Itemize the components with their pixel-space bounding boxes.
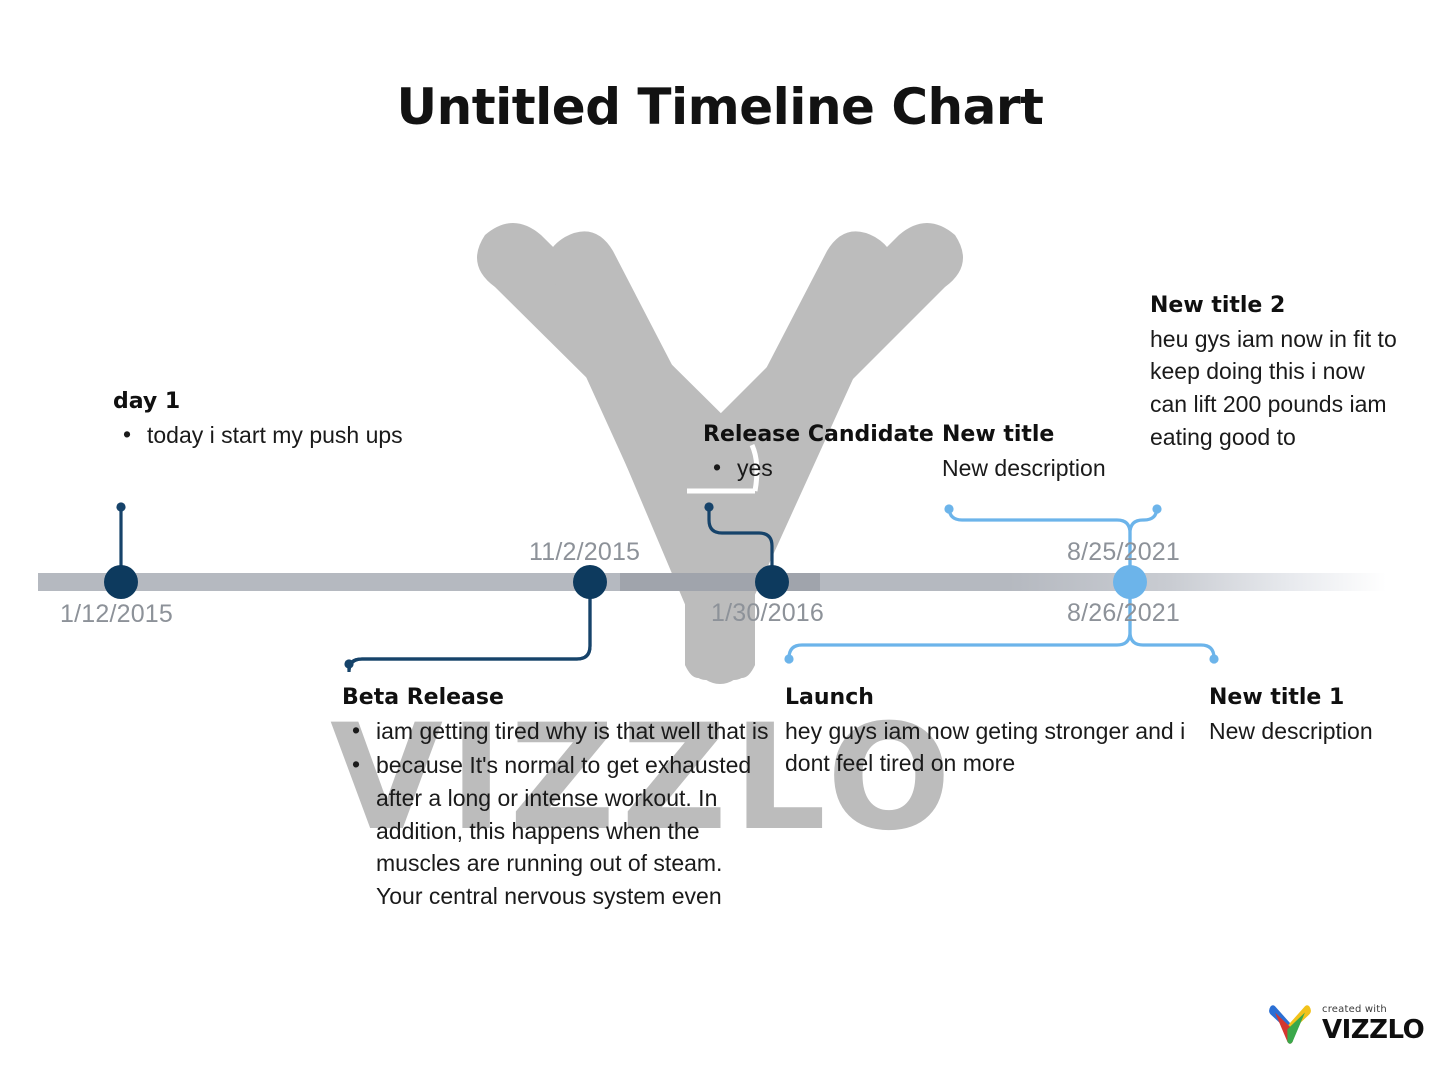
list-item: because It's normal to get exhausted aft… bbox=[376, 749, 768, 912]
milestone-description-launch: hey guys iam now geting stronger and i d… bbox=[785, 715, 1195, 780]
milestone-description-new-title-1: New description bbox=[1209, 715, 1409, 748]
connector-endpoint-release-candidate bbox=[704, 502, 713, 511]
connector-endpoint-day-1 bbox=[116, 502, 125, 511]
milestone-title-new-title-2: New title 2 bbox=[1150, 292, 1398, 321]
milestone-card-new-title: New title New description bbox=[942, 421, 1142, 484]
vizzlo-wordmark-group: created with VIZZLO bbox=[1322, 1005, 1424, 1043]
milestone-card-new-title-1: New title 1 New description bbox=[1209, 684, 1409, 747]
connector-beta-release bbox=[349, 582, 590, 672]
vizzlo-brand-label: VIZZLO bbox=[1322, 1017, 1424, 1043]
list-item: today i start my push ups bbox=[147, 419, 413, 452]
list-item: iam getting tired why is that well that … bbox=[376, 715, 772, 748]
milestone-card-release-candidate: Release Candidate yes bbox=[703, 421, 933, 486]
milestone-card-launch: Launch hey guys iam now geting stronger … bbox=[785, 684, 1195, 780]
milestone-card-beta-release: Beta Release iam getting tired why is th… bbox=[342, 684, 772, 915]
timeline-axis-shadow bbox=[620, 573, 820, 591]
connector-endpoint-new-title-2 bbox=[1152, 504, 1161, 513]
connector-lines-layer bbox=[0, 0, 1440, 1080]
connector-endpoint-launch bbox=[784, 654, 793, 663]
milestone-title-day-1: day 1 bbox=[113, 388, 413, 417]
milestone-dot-day-1[interactable] bbox=[104, 565, 138, 599]
milestone-dot-2021[interactable] bbox=[1113, 565, 1147, 599]
milestone-title-launch: Launch bbox=[785, 684, 1195, 713]
date-label-8-26-2021: 8/26/2021 bbox=[1067, 599, 1180, 628]
vizzlo-footer-logo: created with VIZZLO bbox=[1267, 1000, 1427, 1048]
date-label-1-12-2015: 1/12/2015 bbox=[60, 600, 173, 629]
connector-endpoint-new-title-1 bbox=[1209, 654, 1218, 663]
date-label-8-25-2021: 8/25/2021 bbox=[1067, 538, 1180, 567]
milestone-bullets-day-1: today i start my push ups bbox=[113, 419, 413, 452]
milestone-dot-release-candidate[interactable] bbox=[755, 565, 789, 599]
page-title: Untitled Timeline Chart bbox=[0, 78, 1440, 136]
milestone-description-new-title: New description bbox=[942, 452, 1142, 485]
timeline-chart-canvas: VIZZLO Untitled Timeline Chart 1/12/ bbox=[0, 0, 1440, 1080]
milestone-title-beta-release: Beta Release bbox=[342, 684, 772, 713]
connector-endpoint-beta-release bbox=[344, 659, 353, 668]
date-label-1-30-2016: 1/30/2016 bbox=[711, 599, 824, 628]
list-item: yes bbox=[737, 452, 933, 485]
milestone-title-release-candidate: Release Candidate bbox=[703, 421, 933, 450]
milestone-title-new-title: New title bbox=[942, 421, 1142, 450]
milestone-title-new-title-1: New title 1 bbox=[1209, 684, 1409, 713]
date-label-11-2-2015: 11/2/2015 bbox=[529, 538, 640, 567]
connector-endpoint-new-title bbox=[944, 504, 953, 513]
milestone-bullets-release-candidate: yes bbox=[703, 452, 933, 485]
vizzlo-logo-icon bbox=[1267, 1002, 1313, 1046]
vizzlo-created-with-label: created with bbox=[1322, 1005, 1424, 1015]
milestone-bullets-beta-release: iam getting tired why is that well that … bbox=[342, 715, 772, 913]
milestone-description-new-title-2: heu gys iam now in fit to keep doing thi… bbox=[1150, 323, 1398, 454]
milestone-card-new-title-2: New title 2 heu gys iam now in fit to ke… bbox=[1150, 292, 1398, 453]
milestone-dot-beta-release[interactable] bbox=[573, 565, 607, 599]
milestone-card-day-1: day 1 today i start my push ups bbox=[113, 388, 413, 453]
